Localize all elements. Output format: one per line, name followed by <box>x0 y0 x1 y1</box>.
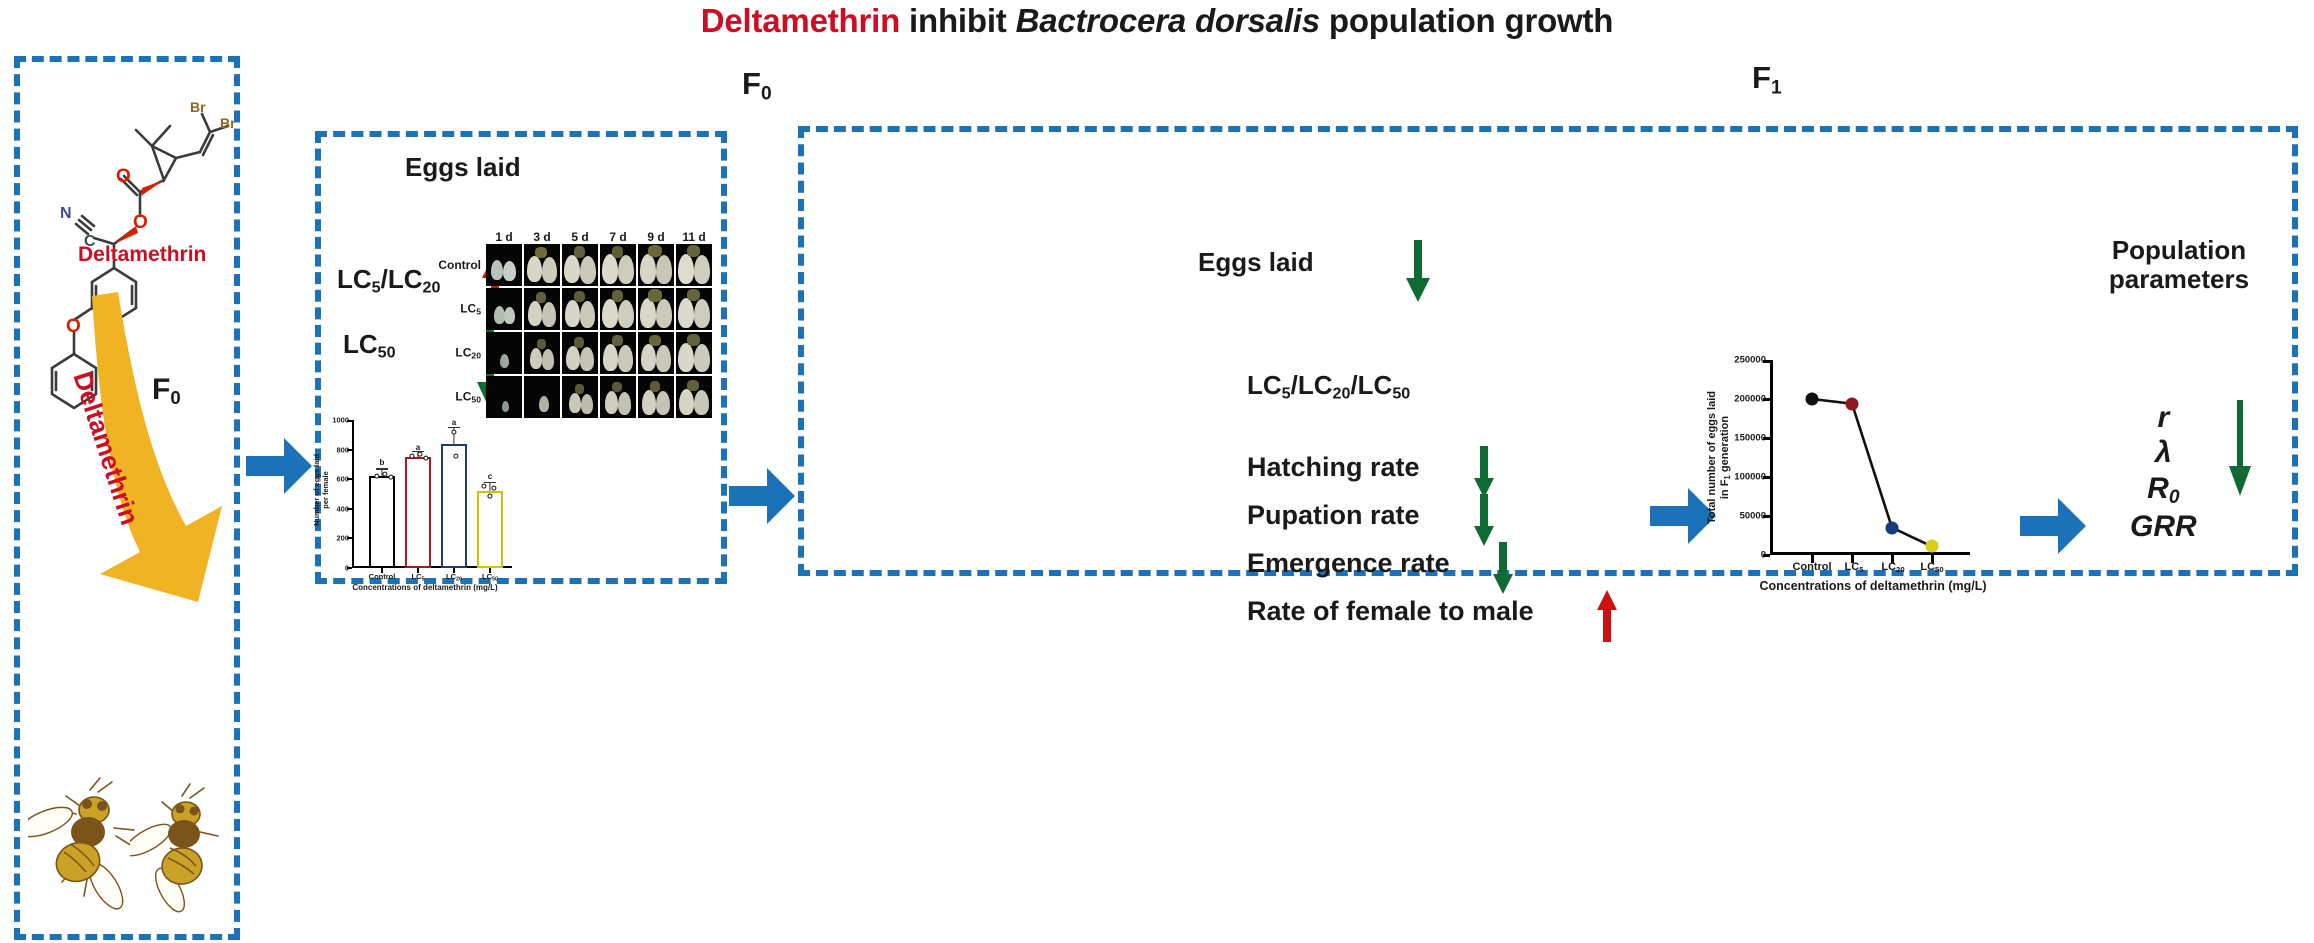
line-chart-xlabel: Concentrations of deltamethrin (mg/L) <box>1708 579 2038 593</box>
atom-bromine-2: Br <box>220 115 234 131</box>
ovary-grid-row: LC5 <box>486 288 714 330</box>
ovary-row-label: LC5 <box>460 301 481 316</box>
line-ytick: 100000 <box>1734 472 1766 483</box>
chart-total-eggs-f1: Total number of eggs laidin F1 generatio… <box>1770 360 1970 555</box>
day-header: 9 d <box>638 230 674 244</box>
bar-xcat-control: Control <box>369 572 396 581</box>
ovary-row-label: Control <box>438 258 481 272</box>
ovary-grid-row: Control <box>486 244 714 286</box>
line-series <box>1770 360 1970 555</box>
flow-arrow-2 <box>729 466 795 526</box>
deltamethrin-exposure-arrow <box>22 290 237 620</box>
flow-arrow-1 <box>246 436 312 496</box>
day-header: 7 d <box>600 230 636 244</box>
line-ytick: 150000 <box>1734 433 1766 444</box>
point-control <box>1806 393 1819 406</box>
bar-control <box>369 476 395 569</box>
line-ytick: 250000 <box>1734 355 1766 366</box>
title-verb: inhibit <box>900 2 1016 39</box>
f1-item-hatching-rate: Hatching rate <box>1247 452 1420 483</box>
day-header: 3 d <box>524 230 560 244</box>
line-xcat-lc20: LC20 <box>1881 561 1904 574</box>
f0-eggs-laid-heading: Eggs laid <box>405 152 521 183</box>
atom-nitrogen: N <box>60 205 72 222</box>
line-xcat-lc50: LC50 <box>1920 561 1943 574</box>
line-chart-ylabel: Total number of eggs laidin F1 generatio… <box>1706 360 1733 555</box>
down-arrow-emergence <box>1492 542 1514 594</box>
generation-label-f0: F0 <box>742 66 772 105</box>
param-lambda: λ <box>2130 435 2197 470</box>
bar-lc5 <box>405 457 431 568</box>
param-r: r <box>2130 400 2197 435</box>
atom-bromine-1: Br <box>190 99 206 115</box>
atom-oxygen-ester: O <box>133 212 148 233</box>
bar-lc50 <box>477 491 503 568</box>
day-header: 1 d <box>486 230 522 244</box>
compound-name-label: Deltamethrin <box>78 243 206 267</box>
bar-chart-xlabel: Concentrations of deltamethrin (mg/L) <box>300 583 550 592</box>
ovary-image-grid: 1 d 3 d 5 d 7 d 9 d 11 d Control LC5 <box>486 230 714 420</box>
point-lc5 <box>1846 397 1859 410</box>
bar-xcat-lc50: LC50 <box>482 572 498 582</box>
bar-chart-ylabel: Number of eggs laidper female <box>312 420 330 560</box>
ovary-grid-day-headers: 1 d 3 d 5 d 7 d 9 d 11 d <box>486 230 714 244</box>
line-ytick: 200000 <box>1734 394 1766 405</box>
flow-arrow-4 <box>2020 496 2086 556</box>
sig-letter: a <box>416 443 420 452</box>
ovary-grid-row: LC20 <box>486 332 714 374</box>
line-xcat-control: Control <box>1792 561 1831 573</box>
ovary-row-label: LC50 <box>455 389 481 404</box>
day-header: 5 d <box>562 230 598 244</box>
down-arrow-green-population <box>2227 400 2253 496</box>
bar-lc20 <box>441 444 467 568</box>
fruit-fly-illustration-2 <box>130 780 240 925</box>
generation-label-f1: F1 <box>1752 60 1782 99</box>
ovary-row-label: LC20 <box>455 345 481 360</box>
sig-letter: a <box>452 418 456 427</box>
f1-item-emergence-rate: Emergence rate <box>1247 548 1450 579</box>
left-panel-generation-label: F0 <box>152 373 181 409</box>
down-arrow-green-f1-eggs <box>1405 240 1431 302</box>
line-xcat-lc5: LC5 <box>1845 561 1864 574</box>
sig-letter: b <box>380 458 385 467</box>
point-lc50 <box>1926 540 1939 553</box>
f1-lc-label: LC5/LC20/LC50 <box>1247 370 1410 404</box>
scale-bar: 500 μm <box>686 426 712 432</box>
up-arrow-female-male <box>1596 590 1618 642</box>
title-compound: Deltamethrin <box>701 2 900 39</box>
title-tail: population growth <box>1320 2 1613 39</box>
f0-lc5-lc20-label: LC5/LC20 <box>337 264 440 298</box>
f1-item-female-male-ratio: Rate of female to male <box>1247 596 1534 627</box>
down-arrow-hatching <box>1473 446 1495 498</box>
title-species: Bactrocera dorsalis <box>1016 2 1320 39</box>
ovary-grid-row: LC50 <box>486 376 714 418</box>
chart-eggs-per-female: Number of eggs laidper female 0 200 400 … <box>352 420 512 568</box>
population-parameters-heading: Populationparameters <box>2059 236 2299 294</box>
population-parameters-list: r λ R0 GRR <box>2130 400 2197 545</box>
f1-eggs-laid-heading: Eggs laid <box>1198 247 1314 278</box>
sig-letter: c <box>488 472 492 481</box>
f0-lc50-label: LC50 <box>343 329 396 363</box>
page-title: Deltamethrin inhibit Bactrocera dorsalis… <box>0 2 2314 40</box>
bar-xcat-lc20: LC20 <box>446 572 462 582</box>
param-grr: GRR <box>2130 509 2197 544</box>
down-arrow-pupation <box>1473 494 1495 546</box>
f1-item-pupation-rate: Pupation rate <box>1247 500 1420 531</box>
day-header: 11 d <box>676 230 712 244</box>
bar-xcat-lc5: LC5 <box>412 572 425 582</box>
point-lc20 <box>1886 521 1899 534</box>
atom-oxygen-carbonyl: O <box>116 166 131 187</box>
param-r0: R0 <box>2130 471 2197 509</box>
